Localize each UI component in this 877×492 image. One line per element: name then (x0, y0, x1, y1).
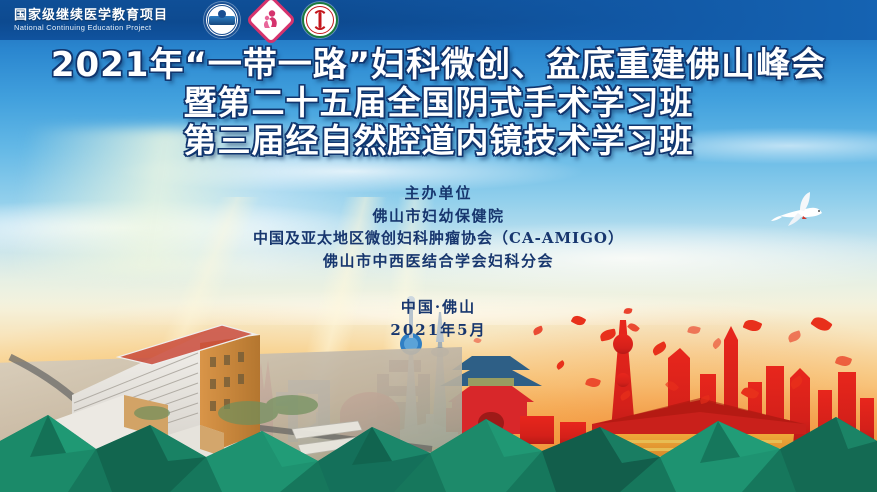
national-program-label: 国家级继续医学教育项目 National Continuing Educatio… (14, 8, 168, 32)
organizer-line-3: 佛山市中西医结合学会妇科分会 (0, 250, 877, 273)
mother-child-glyph (260, 9, 282, 31)
ca-amigo-logo (204, 2, 240, 38)
organizer-line-2: 中国及亚太地区微创妇科肿瘤协会（CA-AMIGO） (0, 227, 877, 250)
title-line-3: 第三届经自然腔道内镜技术学习班 (0, 123, 877, 160)
green-low-poly-mountains (0, 357, 877, 492)
program-title-cn: 国家级继续医学教育项目 (14, 8, 168, 22)
logo-group (204, 2, 338, 38)
program-title-en: National Continuing Education Project (14, 24, 168, 32)
poster-title: 2021年“一带一路”妇科微创、盆底重建佛山峰会 暨第二十五届全国阴式手术学习班… (0, 46, 877, 160)
location-date-block: 中国·佛山 2021年5月 (0, 296, 877, 343)
organizer-line-1: 佛山市妇幼保健院 (0, 205, 877, 228)
organizer-heading: 主办单位 (0, 183, 877, 205)
date-text: 2021年5月 (0, 319, 877, 342)
title-line-2: 暨第二十五届全国阴式手术学习班 (0, 85, 877, 122)
title-line-1: 2021年“一带一路”妇科微创、盆底重建佛山峰会 (0, 46, 877, 84)
location-text: 中国·佛山 (0, 296, 877, 319)
conference-poster: 国家级继续医学教育项目 National Continuing Educatio… (0, 0, 877, 492)
top-banner-bar: 国家级继续医学教育项目 National Continuing Educatio… (0, 0, 877, 40)
tcm-association-logo (302, 2, 338, 38)
ca-amigo-ring (207, 5, 237, 35)
tcm-snake (312, 10, 328, 30)
maternal-child-health-logo (246, 0, 297, 45)
organizer-block: 主办单位 佛山市妇幼保健院 中国及亚太地区微创妇科肿瘤协会（CA-AMIGO） … (0, 183, 877, 272)
